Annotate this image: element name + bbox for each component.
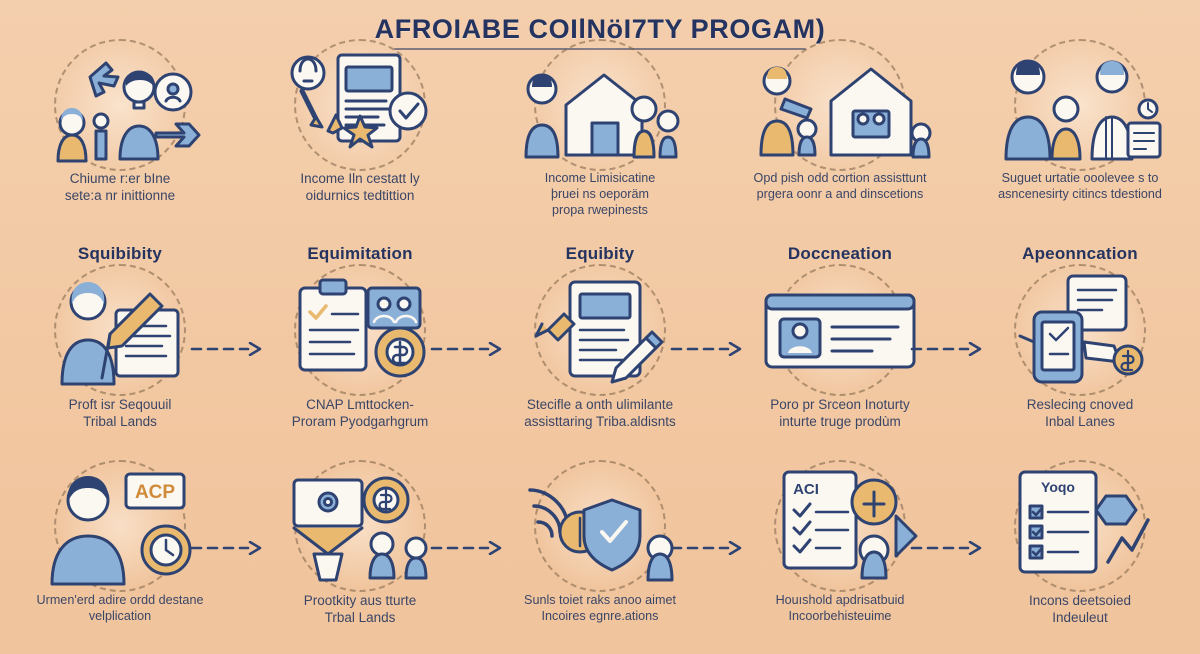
- heading-mid-1: Squibibity: [78, 244, 162, 264]
- cell-top-5: Suguet urtatie ooolevee s toasncenesirty…: [960, 46, 1200, 226]
- row-top: Chiume r:er bInesete:a nr inittionne: [0, 46, 1200, 226]
- caption-mid-5: Reslecing cnovedInbal Lanes: [973, 396, 1188, 430]
- cell-mid-5: Apeonncation: [960, 236, 1200, 461]
- illustration-house-people-assistance: [740, 46, 940, 164]
- signal-shield-icon: [510, 466, 690, 586]
- cell-mid-4: Doccneation Poro pr Srceon Inoturtyintur…: [720, 236, 960, 461]
- caption-mid-4: Poro pr Srceon Inoturtyinturte truge pro…: [733, 396, 948, 430]
- illustration-document-checklist: [260, 46, 460, 164]
- badge-label-yoqo: Yoqo: [1041, 479, 1075, 495]
- illustration-signal-shield: [500, 466, 700, 586]
- house-family-icon: [508, 47, 692, 163]
- caption-top-1: Chiume r:er bInesete:a nr inittionne: [13, 170, 228, 204]
- illustration-document-anchor: ACI: [740, 466, 940, 586]
- illustration-clipboard-gear-coin: [260, 270, 460, 390]
- caption-top-3: Income Limisicatineþruei ns oeporämpropa…: [493, 170, 708, 218]
- clipboard-gear-coin-icon: [270, 272, 450, 388]
- mobile-payment-icon: [992, 272, 1168, 388]
- cell-mid-2: Equimitation: [240, 236, 480, 461]
- document-checklist-icon: [268, 47, 452, 163]
- caption-mid-1: Proft isr SeqouuilTribal Lands: [13, 396, 228, 430]
- cell-mid-3: Equibity Stecifle a onth ulimilanteassis: [480, 236, 720, 461]
- cell-top-2: Income Iln cestatt lyoidurnics tedtittio…: [240, 46, 480, 226]
- heading-mid-3: Equibity: [566, 244, 635, 264]
- cell-bot-3: Sunls toiet raks anoo aimetIncoires egnr…: [480, 464, 720, 654]
- illustration-checklist-chart: Yoqo: [980, 466, 1180, 586]
- family-with-arrows-icon: [28, 47, 212, 163]
- infographic-page: AFROIABE COIlNöI7TY PROGAM): [0, 0, 1200, 654]
- document-anchor-icon: ACI: [750, 466, 930, 586]
- illustration-id-card: [740, 270, 940, 390]
- illustration-family-with-arrows: [20, 46, 220, 164]
- cell-top-3: Income Limisicatineþruei ns oeporämpropa…: [480, 46, 720, 226]
- badge-label-acp: ACP: [135, 482, 175, 503]
- heading-mid-2: Equimitation: [307, 244, 412, 264]
- cell-bot-1: ACP Urmen'erd adire ordd destanevelplica…: [0, 464, 240, 654]
- caption-bot-1: Urmen'erd adire ordd destanevelplication: [13, 592, 228, 624]
- illustration-person-writing-form: [20, 270, 220, 390]
- caption-mid-3: Stecifle a onth ulimilanteassisttaring T…: [493, 396, 708, 430]
- cell-bot-5: Yoqo Incons deetsoiedIndeuleut: [960, 464, 1200, 654]
- caption-mid-2: CNAP Lmttocken-Proram Pyodgarhgrum: [253, 396, 468, 430]
- caption-bot-4: Houıshold apdrisatbuidIncoorbehisteuime: [733, 592, 948, 624]
- heading-mid-5: Apeonncation: [1022, 244, 1138, 264]
- illustration-person-acp-badge: ACP: [20, 466, 220, 586]
- id-card-icon: [750, 275, 930, 385]
- doctor-patient-icon: [988, 47, 1172, 163]
- badge-label-aci: ACI: [793, 481, 819, 498]
- row-bottom: ACP Urmen'erd adire ordd destanevelplica…: [0, 464, 1200, 654]
- envelope-gear-people-icon: [270, 466, 450, 586]
- person-writing-form-icon: [32, 272, 208, 388]
- house-people-assistance-icon: [745, 47, 935, 163]
- cell-top-1: Chiume r:er bInesete:a nr inittionne: [0, 46, 240, 226]
- caption-top-4: Opd pish odd cortion assisttuntprgera oo…: [733, 170, 948, 202]
- checklist-chart-icon: Yoqo: [990, 466, 1170, 586]
- caption-bot-2: Prootkity aus tturteTrbal Lands: [253, 592, 468, 626]
- cell-bot-2: Prootkity aus tturteTrbal Lands: [240, 464, 480, 654]
- illustration-house-family: [500, 46, 700, 164]
- document-pen-icon: [512, 272, 688, 388]
- illustration-mobile-payment: [980, 270, 1180, 390]
- caption-bot-3: Sunls toiet raks anoo aimetIncoires egnr…: [493, 592, 708, 624]
- caption-top-5: Suguet urtatie ooolevee s toasncenesirty…: [973, 170, 1188, 202]
- caption-top-2: Income Iln cestatt lyoidurnics tedtittio…: [253, 170, 468, 204]
- cell-mid-1: Squibibity Proft isr SeqouuilTribal Land: [0, 236, 240, 461]
- person-acp-badge-icon: ACP: [30, 466, 210, 586]
- illustration-document-pen: [500, 270, 700, 390]
- illustration-envelope-gear-people: [260, 466, 460, 586]
- row-middle: Squibibity Proft isr SeqouuilTribal Land: [0, 236, 1200, 461]
- cell-top-4: Opd pish odd cortion assisttuntprgera oo…: [720, 46, 960, 226]
- caption-bot-5: Incons deetsoiedIndeuleut: [973, 592, 1188, 626]
- cell-bot-4: ACI Houıshold apdrisatbuidIncoorbehisteu…: [720, 464, 960, 654]
- illustration-doctor-patient: [980, 46, 1180, 164]
- heading-mid-4: Doccneation: [788, 244, 892, 264]
